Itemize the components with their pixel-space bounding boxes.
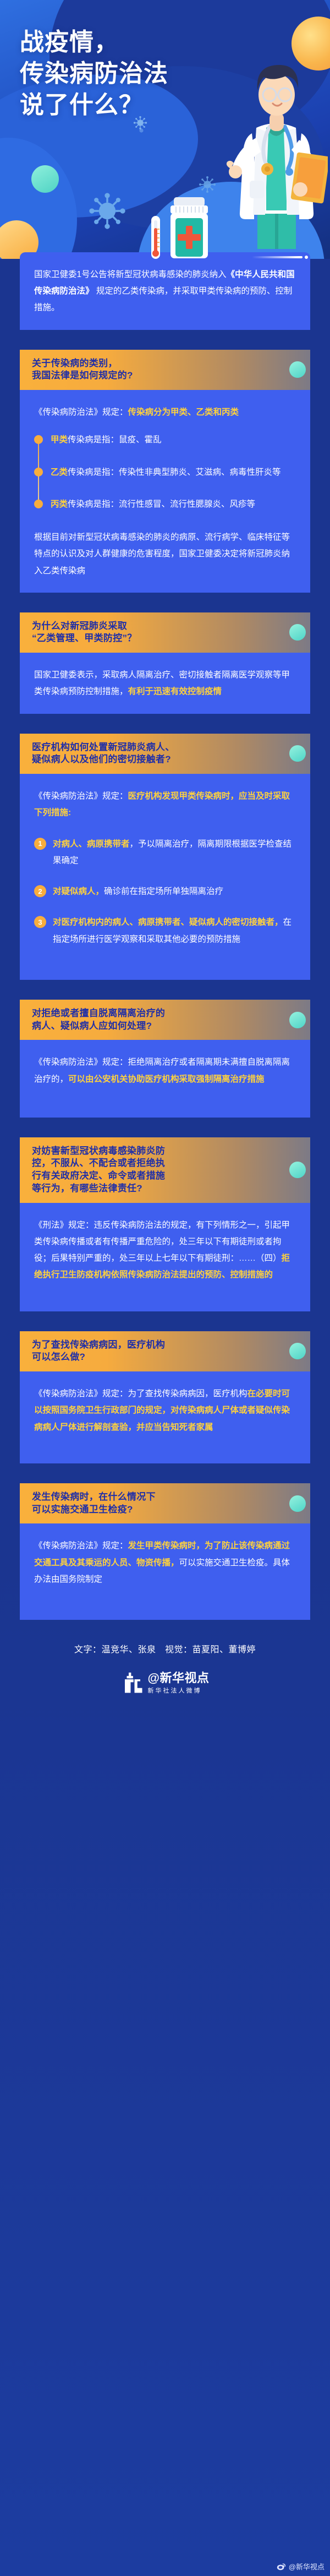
brand-logo: @新华视点 新华社法人微博 bbox=[0, 1672, 330, 1695]
highlight: 对疑似病人， bbox=[53, 887, 104, 896]
highlight: 传染病分为甲类、乙类和丙类 bbox=[128, 408, 239, 417]
measures-list: 1 对病人、病原携带者，予以隔离治疗，隔离期限根据医学检查结果确定 2 对疑似病… bbox=[34, 836, 296, 948]
teal-circle-icon bbox=[289, 1495, 306, 1512]
list-item-text: 乙类传染病是指：传染性非典型肺炎、艾滋病、病毒性肝炎等 bbox=[51, 464, 296, 481]
virus-icon bbox=[88, 192, 127, 230]
teal-circle-icon bbox=[289, 361, 306, 378]
criminal-liability-paragraph: 《刑法》规定：违反传染病防治法的规定，有下列情形之一，引起甲类传染病传播或者有传… bbox=[34, 1217, 296, 1284]
highlight: 对病人、病原携带者 bbox=[53, 839, 130, 849]
category-desc: 传染病是指：流行性感冒、流行性腮腺炎、风疹等 bbox=[68, 500, 255, 509]
refuse-quarantine-card: 《传染病防治法》规定：拒绝隔离治疗或者隔离期未满擅自脱离隔离治疗的，可以由公安机… bbox=[20, 1040, 310, 1117]
list-item: 丙类传染病是指：流行性感冒、流行性腮腺炎、风疹等 bbox=[51, 496, 296, 513]
question-banner-criminal-liability: 对妨害新型冠状病毒感染肺炎防 控，不服从、不配合或者拒绝执 行有关政府决定、命令… bbox=[20, 1137, 310, 1203]
weibo-icon bbox=[277, 2563, 286, 2570]
list-item: 2 对疑似病人，确诊前在指定场所单独隔离治疗 bbox=[34, 883, 296, 900]
brand-subtitle: 新华社法人微博 bbox=[148, 1686, 210, 1695]
medical-measures-card: 《传染病防治法》规定：医疗机构发现甲类传染病时，应当及时采取下列措施: 1 对病… bbox=[20, 774, 310, 980]
question-text: 对妨害新型冠状病毒感染肺炎防 控，不服从、不配合或者拒绝执 行有关政府决定、命令… bbox=[32, 1145, 165, 1195]
autopsy-paragraph: 《传染病防治法》规定：为了查找传染病病因，医疗机构在必要时可以按照国务院卫生行政… bbox=[34, 1386, 296, 1436]
refuse-quarantine-paragraph: 《传染病防治法》规定：拒绝隔离治疗或者隔离期未满擅自脱离隔离治疗的，可以由公安机… bbox=[34, 1054, 296, 1087]
list-item-text: 甲类传染病是指：鼠疫、霍乱 bbox=[51, 432, 296, 448]
categories-card: 《传染病防治法》规定：传染病分为甲类、乙类和丙类 甲类传染病是指：鼠疫、霍乱 乙… bbox=[20, 390, 310, 593]
traffic-quarantine-paragraph: 《传染病防治法》规定：发生甲类传染病时，为了防止该传染病通过交通工具及其乘运的人… bbox=[34, 1538, 296, 1588]
list-item-text: 对病人、病原携带者，予以隔离治疗，隔离期限根据医学检查结果确定 bbox=[53, 839, 291, 865]
autopsy-card: 《传染病防治法》规定：为了查找传染病病因，医疗机构在必要时可以按照国务院卫生行政… bbox=[20, 1371, 310, 1463]
thermometer-icon bbox=[150, 216, 162, 259]
category-desc: 传染病是指：鼠疫、霍乱 bbox=[68, 435, 162, 444]
categories-tail: 根据目前对新型冠状病毒感染的肺炎的病原、流行病学、临床特征等特点的认识及对人群健… bbox=[34, 529, 296, 579]
text-run: 《传染病防治法》规定：为了查找传染病病因，医疗机构 bbox=[34, 1389, 248, 1398]
category-label: 丙类 bbox=[51, 500, 68, 509]
number-badge: 3 bbox=[34, 916, 46, 928]
credits-line: 文字：温竞华、张泉 视觉：苗夏阳、董博婷 bbox=[0, 1642, 330, 1655]
list-item: 1 对病人、病原携带者，予以隔离治疗，隔离期限根据医学检查结果确定 bbox=[34, 836, 296, 869]
list-item-text: 对医疗机构内的病人、病原携带者、疑似病人的密切接触者，在指定场所进行医学观察和采… bbox=[53, 918, 291, 943]
category-label: 甲类 bbox=[51, 435, 68, 444]
decor-line bbox=[252, 256, 302, 258]
question-banner-traffic-quarantine: 发生传染病时，在什么情况下 可以实施交通卫生检疫? bbox=[20, 1483, 310, 1524]
teal-circle-icon bbox=[289, 1162, 306, 1178]
measures-intro: 《传染病防治法》规定：医疗机构发现甲类传染病时，应当及时采取下列措施: bbox=[34, 788, 296, 821]
text-run: 《传染病防治法》规定： bbox=[34, 1541, 128, 1550]
pill-bottle-icon bbox=[165, 197, 213, 259]
category-list: 甲类传染病是指：鼠疫、霍乱 乙类传染病是指：传染性非典型肺炎、艾滋病、病毒性肝炎… bbox=[34, 432, 296, 513]
question-banner-medical-measures: 医疗机构如何处置新冠肺炎病人、 疑似病人以及他们的密切接触者? bbox=[20, 734, 310, 774]
question-text: 发生传染病时，在什么情况下 可以实施交通卫生检疫? bbox=[32, 1491, 156, 1516]
highlight: 可以由公安机关协助医疗机构采取强制隔离治疗措施 bbox=[68, 1075, 265, 1084]
teal-circle-icon bbox=[289, 745, 306, 762]
text-run: 国家卫健委1号公告将新型冠状病毒感染的肺炎纳入 bbox=[34, 270, 227, 279]
xinhua-logo-icon bbox=[121, 1672, 144, 1695]
weibo-watermark: @新华视点 bbox=[277, 2561, 324, 2572]
list-item: 甲类传染病是指：鼠疫、霍乱 bbox=[51, 432, 296, 448]
question-banner-autopsy: 为了查找传染病病因，医疗机构 可以怎么做? bbox=[20, 1331, 310, 1372]
category-desc: 传染病是指：传染性非典型肺炎、艾滋病、病毒性肝炎等 bbox=[68, 468, 281, 477]
page-title: 战疫情， 传染病防治法 说了什么？ bbox=[20, 26, 168, 121]
highlight: 有利于迅速有效控制疫情 bbox=[128, 687, 222, 696]
question-text: 为什么对新冠肺炎采取 “乙类管理、甲类防控”？ bbox=[32, 620, 137, 646]
brand-name: @新华视点 bbox=[148, 1672, 210, 1684]
list-item-text: 对疑似病人，确诊前在指定场所单独隔离治疗 bbox=[53, 887, 223, 896]
intro-card: 国家卫健委1号公告将新型冠状病毒感染的肺炎纳入《中华人民共和国传染病防治法》 规… bbox=[20, 252, 310, 330]
text-run: 《刑法》规定：违反传染病防治法的规定，有下列情形之一，引起甲类传染病传播或者有传… bbox=[34, 1221, 290, 1263]
question-banner-refuse-quarantine: 对拒绝或者擅自脱离隔离治疗的 病人、疑似病人应如何处理? bbox=[20, 1000, 310, 1040]
hero-banner: 战疫情， 传染病防治法 说了什么？ bbox=[0, 0, 330, 259]
number-badge: 2 bbox=[34, 885, 46, 897]
list-item-text: 丙类传染病是指：流行性感冒、流行性腮腺炎、风疹等 bbox=[51, 496, 296, 513]
virus-icon bbox=[136, 126, 146, 135]
question-banner-categories: 关于传染病的类别， 我国法律是如何规定的? bbox=[20, 350, 310, 391]
bullet-dot-icon bbox=[34, 468, 43, 476]
number-badge: 1 bbox=[34, 838, 46, 850]
brand-text: @新华视点 新华社法人微博 bbox=[148, 1672, 210, 1695]
categories-intro: 《传染病防治法》规定：传染病分为甲类、乙类和丙类 bbox=[34, 404, 296, 421]
virus-icon bbox=[198, 175, 217, 194]
traffic-quarantine-card: 《传染病防治法》规定：发生甲类传染病时，为了防止该传染病通过交通工具及其乘运的人… bbox=[20, 1523, 310, 1620]
infographic-page: 战疫情， 传染病防治法 说了什么？ 国家卫健委1号公告将新型冠状病毒感染的肺炎纳… bbox=[0, 0, 330, 2576]
question-text: 对拒绝或者擅自脱离隔离治疗的 病人、疑似病人应如何处理? bbox=[32, 1007, 165, 1033]
doctor-illustration bbox=[223, 51, 328, 249]
text-run: 确诊前在指定场所单独隔离治疗 bbox=[104, 887, 223, 896]
intro-paragraph: 国家卫健委1号公告将新型冠状病毒感染的肺炎纳入《中华人民共和国传染病防治法》 规… bbox=[34, 267, 296, 317]
question-text: 医疗机构如何处置新冠肺炎病人、 疑似病人以及他们的密切接触者? bbox=[32, 741, 175, 767]
why-b-class-paragraph: 国家卫健委表示，采取病人隔离治疗、密切接触者隔离医学观察等甲类传染病预防控制措施… bbox=[34, 667, 296, 700]
teal-circle-icon bbox=[31, 165, 59, 193]
why-b-class-card: 国家卫健委表示，采取病人隔离治疗、密切接触者隔离医学观察等甲类传染病预防控制措施… bbox=[20, 653, 310, 713]
teal-circle-icon bbox=[289, 1012, 306, 1028]
bullet-dot-icon bbox=[34, 435, 43, 444]
text-run: 《传染病防治法》规定： bbox=[34, 791, 128, 801]
question-banner-why-b-class: 为什么对新冠肺炎采取 “乙类管理、甲类防控”？ bbox=[20, 612, 310, 653]
text-run: 《传染病防治法》规定： bbox=[34, 408, 128, 417]
weibo-handle: @新华视点 bbox=[289, 2561, 324, 2572]
teal-circle-icon bbox=[289, 624, 306, 641]
list-item: 乙类传染病是指：传染性非典型肺炎、艾滋病、病毒性肝炎等 bbox=[51, 464, 296, 481]
question-text: 关于传染病的类别， 我国法律是如何规定的? bbox=[32, 357, 133, 383]
list-item: 3 对医疗机构内的病人、病原携带者、疑似病人的密切接触者，在指定场所进行医学观察… bbox=[34, 914, 296, 947]
decor-dot bbox=[305, 256, 308, 259]
highlight: 对医疗机构内的病人、病原携带者、疑似病人的密切接触者， bbox=[53, 918, 283, 927]
bullet-dot-icon bbox=[34, 500, 43, 508]
category-label: 乙类 bbox=[51, 468, 68, 477]
criminal-liability-card: 《刑法》规定：违反传染病防治法的规定，有下列情形之一，引起甲类传染病传播或者有传… bbox=[20, 1203, 310, 1311]
teal-circle-icon bbox=[289, 1343, 306, 1359]
question-text: 为了查找传染病病因，医疗机构 可以怎么做? bbox=[32, 1339, 165, 1364]
footer: 文字：温竞华、张泉 视觉：苗夏阳、董博婷 @新华视点 新华社法人微博 bbox=[0, 1620, 330, 1709]
